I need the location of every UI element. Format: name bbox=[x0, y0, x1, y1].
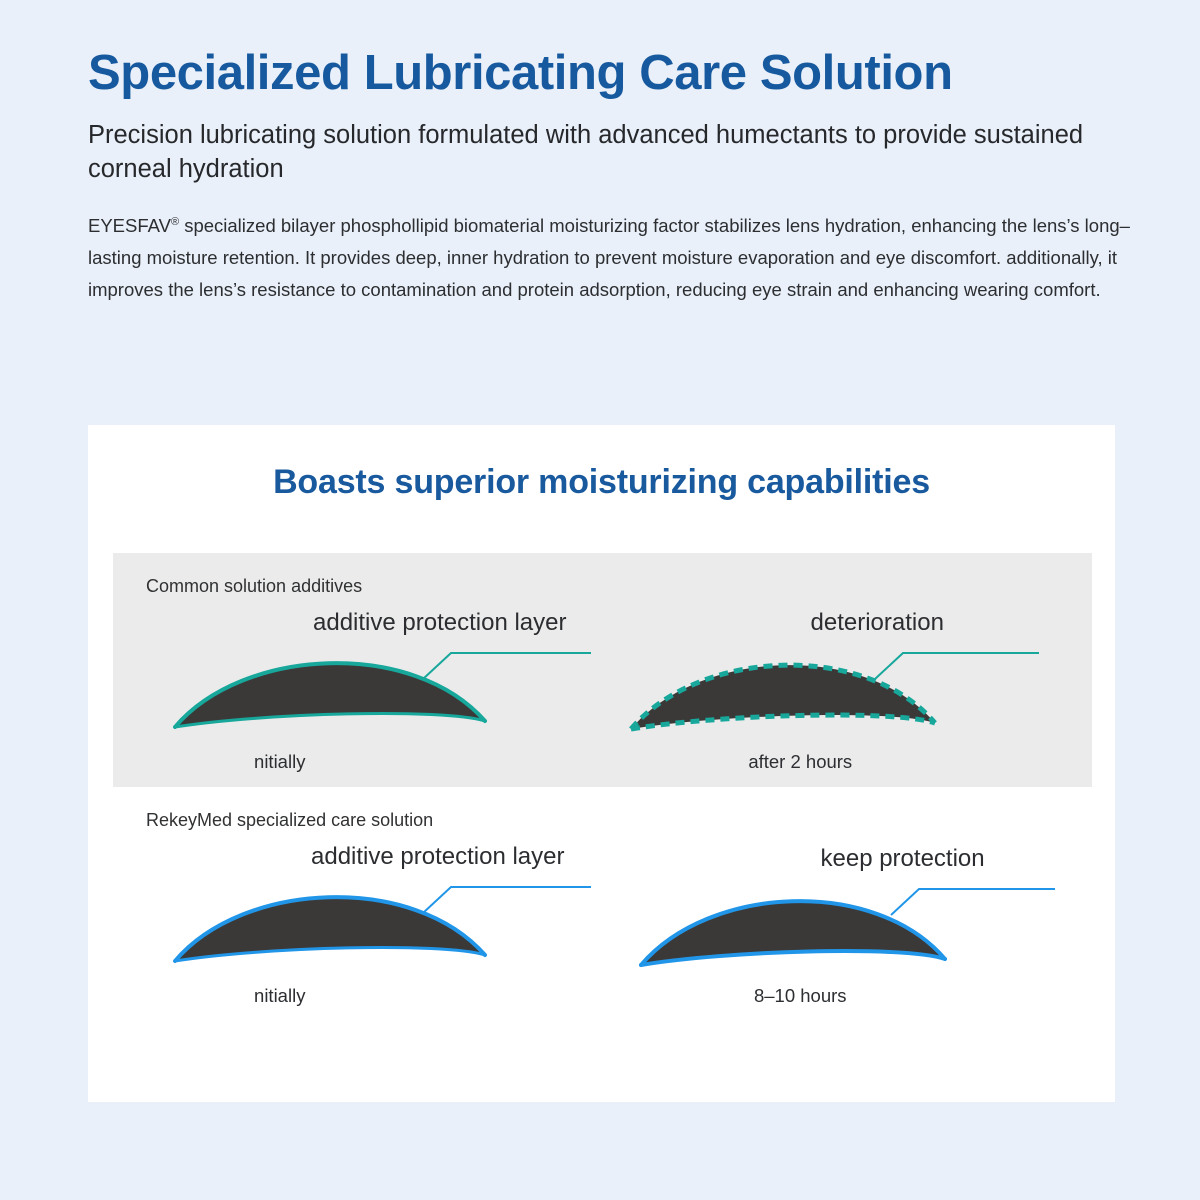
page-subtitle: Precision lubricating solution formulate… bbox=[88, 101, 1146, 186]
lens-body-shape bbox=[175, 663, 485, 727]
callout-leader-line bbox=[891, 889, 1055, 915]
row-common-panels: additive protection layer nitially deter… bbox=[113, 601, 1092, 787]
row-rekeymed-panels: additive protection layer nitially keep … bbox=[113, 835, 1092, 1021]
caption-8-10-hours: 8–10 hours bbox=[556, 985, 1046, 1007]
caption-initially: nitially bbox=[35, 985, 525, 1007]
callout-additive-protection-layer: additive protection layer bbox=[313, 609, 566, 637]
page-root: Specialized Lubricating Care Solution Pr… bbox=[0, 0, 1200, 1200]
caption-initially: nitially bbox=[35, 751, 525, 773]
row-common-additives: Common solution additives additive prote… bbox=[113, 553, 1092, 787]
panel-common-initial: additive protection layer nitially bbox=[113, 601, 603, 787]
body-brand: EYESFAV bbox=[88, 215, 171, 236]
lens-body-shape bbox=[631, 665, 935, 729]
page-title: Specialized Lubricating Care Solution bbox=[88, 46, 1148, 101]
comparison-card: Boasts superior moisturizing capabilitie… bbox=[88, 425, 1115, 1102]
callout-leader-line bbox=[423, 653, 591, 679]
panel-common-after-2-hours: deterioration after 2 hours bbox=[603, 601, 1093, 787]
row-rekeymed-solution: RekeyMed specialized care solution addit… bbox=[113, 787, 1092, 1021]
body-text: specialized bilayer phosphollipid biomat… bbox=[88, 215, 1130, 300]
callout-deterioration: deterioration bbox=[811, 609, 944, 637]
panel-rekeymed-initial: additive protection layer nitially bbox=[113, 835, 603, 1021]
panel-rekeymed-8-10-hours: keep protection 8–10 hours bbox=[603, 835, 1093, 1021]
callout-keep-protection: keep protection bbox=[821, 845, 985, 873]
card-heading: Boasts superior moisturizing capabilitie… bbox=[88, 463, 1115, 502]
row-label-rekeymed: RekeyMed specialized care solution bbox=[146, 810, 433, 831]
callout-additive-protection-layer: additive protection layer bbox=[311, 843, 564, 871]
lens-body-shape bbox=[175, 897, 485, 961]
row-label-common: Common solution additives bbox=[146, 576, 362, 597]
caption-after-2-hours: after 2 hours bbox=[556, 751, 1046, 773]
lens-body-shape bbox=[641, 901, 945, 965]
header: Specialized Lubricating Care Solution Pr… bbox=[88, 46, 1148, 306]
callout-leader-line bbox=[875, 653, 1039, 679]
registered-trademark-icon: ® bbox=[171, 216, 179, 228]
body-paragraph: EYESFAV® specialized bilayer phosphollip… bbox=[88, 186, 1133, 305]
callout-leader-line bbox=[423, 887, 591, 913]
